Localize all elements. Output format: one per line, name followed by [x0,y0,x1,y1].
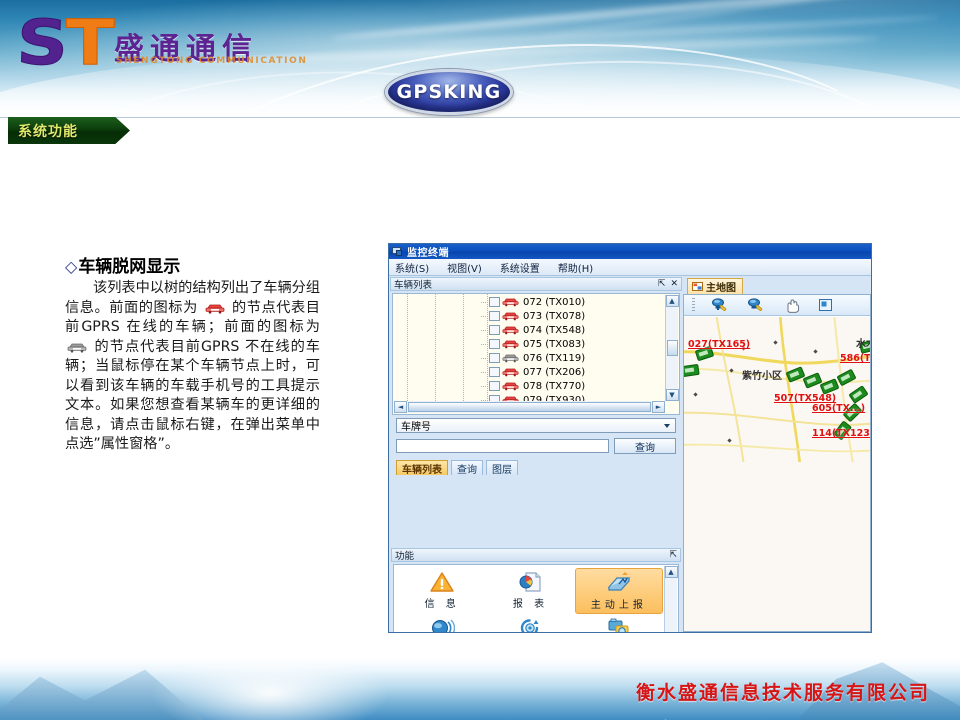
function-item-report[interactable]: 报 表 [486,568,574,614]
vehicle-checkbox[interactable] [489,311,500,321]
scroll-up-button[interactable]: ▲ [666,295,679,307]
header-divider [0,117,960,118]
car-online-icon [502,339,519,349]
scroll-down-button[interactable]: ▼ [666,389,679,401]
vehicle-tree-row[interactable]: 073 (TX078) [489,309,663,323]
paragraph-part-3: 的节点代表目前GPRS 不在线的车辆；当鼠标停在某个车辆节点上时，可以看到该车辆… [65,339,320,453]
search-input[interactable] [396,439,609,453]
function-grid: 信 息 报 表 [398,568,663,633]
vehicle-tree-row[interactable]: 078 (TX770) [489,379,663,393]
company-logo: S T 盛通通信 SHENGTONG COMMUNICATION [18,16,318,78]
page-footer: 衡水盛通信息技术服务有限公司 [0,658,960,720]
tree-horizontal-scrollbar[interactable]: ◄ ► [394,401,665,413]
content-heading: ◇车辆脱网显示 [65,252,320,277]
vehicle-label: 073 (TX078) [523,311,585,322]
search-area: 车牌号 查询 [396,418,676,454]
vehicle-list-caption-label: 车辆列表 [394,277,432,291]
map-icon [692,282,703,291]
track-replay-icon [517,616,543,633]
content-paragraph: 该列表中以树的结构列出了车辆分组信息。前面的图标为 的节点代表目前GPRS 在线… [65,279,320,455]
diamond-bullet-icon: ◇ [65,257,77,276]
gpsking-badge: GPSKING [385,69,513,115]
car-offline-icon [67,342,87,353]
function-item-label: 主动上报 [591,596,647,611]
footer-company-name: 衡水盛通信息技术服务有限公司 [636,678,930,705]
zoom-out-icon[interactable] [745,297,767,314]
select-rect-icon[interactable] [817,297,839,314]
map-vehicle-label: 605(TX...) [812,403,865,414]
function-item-label: 报 表 [513,595,548,610]
vehicle-label: 072 (TX010) [523,297,585,308]
map-place-label: 紫竹小区 [742,367,782,382]
vehicle-tree-row[interactable]: 074 (TX548) [489,323,663,337]
gpsking-badge-label: GPSKING [397,81,502,103]
map-vehicle-label: 586(TX...) [840,353,870,364]
page-header: S T 盛通通信 SHENGTONG COMMUNICATION GPSKING [0,0,960,118]
vehicle-checkbox[interactable] [489,381,500,391]
menu-bar: 系统(S) 视图(V) 系统设置 帮助(H) [389,259,871,276]
scroll-thumb[interactable] [408,402,651,412]
tab-main-map-label: 主地图 [706,279,736,294]
query-button[interactable]: 查询 [614,438,676,454]
scroll-right-button[interactable]: ► [652,401,665,413]
dispatch-signal-icon [429,616,455,633]
vehicle-label: 078 (TX770) [523,381,585,392]
car-online-icon [502,325,519,335]
map-tabstrip: 主地图 [683,277,871,294]
map-place-label: 水木 [856,335,870,350]
vehicle-tree-row[interactable]: 072 (TX010) [489,295,663,309]
menu-item-view[interactable]: 视图(V) [447,260,482,275]
car-online-icon [502,381,519,391]
search-field-select[interactable]: 车牌号 [396,418,676,433]
tab-main-map[interactable]: 主地图 [687,278,743,294]
pin-icon[interactable]: ⇱ [658,280,666,289]
function-item-dispatch[interactable]: 调 度 [398,614,486,633]
vehicle-checkbox[interactable] [489,325,500,335]
zoom-in-icon[interactable] [709,297,731,314]
car-offline-icon [502,353,519,363]
search-field-select-value: 车牌号 [401,418,431,433]
vehicle-label: 074 (TX548) [523,325,585,336]
vehicle-checkbox[interactable] [489,297,500,307]
map-vehicle-label: 114(TX123) [812,428,870,439]
function-item-active-report[interactable]: 主动上报 [575,568,663,614]
pan-hand-icon[interactable] [781,297,803,314]
scroll-left-button[interactable]: ◄ [394,401,407,413]
tab-vehicle-list[interactable]: 车辆列表 [396,460,448,475]
chevron-down-icon [664,424,670,428]
camera-photo-icon [606,616,632,633]
tab-layers[interactable]: 图层 [486,460,518,475]
content-block: ◇车辆脱网显示 该列表中以树的结构列出了车辆分组信息。前面的图标为 的节点代表目… [65,252,320,455]
application-window: 监控终端 系统(S) 视图(V) 系统设置 帮助(H) 车辆列表 ⇱ ✕ [388,243,872,633]
function-panel-scrollbar[interactable]: ▲ [664,566,677,633]
vehicle-checkbox[interactable] [489,339,500,349]
tab-query[interactable]: 查询 [451,460,483,475]
vehicle-tree-row[interactable]: 077 (TX206) [489,365,663,379]
menu-item-system[interactable]: 系统(S) [395,260,429,275]
function-panel: 功能 ⇱ 信 息 [391,548,681,633]
map-toolbar [684,295,870,316]
function-panel-caption: 功能 ⇱ [391,548,681,562]
logo-company-en: SHENGTONG COMMUNICATION [116,56,307,66]
map-body: 027(TX165) 水木 586(TX...) 紫竹小区 507(TX548)… [683,294,871,632]
vehicle-tree-rows: 072 (TX010) 073 (TX078) 074 (TX548) [489,295,663,407]
report-document-icon [517,570,543,594]
function-panel-caption-label: 功能 [395,548,414,562]
menu-item-settings[interactable]: 系统设置 [500,260,540,275]
window-titlebar: 监控终端 [389,244,871,259]
map-canvas[interactable]: 027(TX165) 水木 586(TX...) 紫竹小区 507(TX548)… [684,317,870,631]
section-tag: 系统功能 [8,117,130,144]
left-dock: 车辆列表 ⇱ ✕ 072 (TX010) [390,277,682,633]
dock-tabs: 车辆列表 查询 图层 [396,460,682,475]
logo-letter-s: S [16,12,70,74]
scroll-up-button[interactable]: ▲ [665,566,678,578]
upload-report-icon [606,571,632,595]
vehicle-label: 076 (TX119) [523,353,585,364]
vehicle-list-caption: 车辆列表 ⇱ ✕ [390,277,682,291]
section-tag-label: 系统功能 [18,121,78,141]
close-icon[interactable]: ✕ [670,279,678,289]
car-online-icon [502,367,519,377]
car-online-icon [502,311,519,321]
vehicle-label: 075 (TX083) [523,339,585,350]
car-online-icon [502,297,519,307]
map-vehicle-label: 027(TX165) [688,339,750,350]
vehicle-tree[interactable]: 072 (TX010) 073 (TX078) 074 (TX548) [392,293,680,415]
vehicle-tree-row[interactable]: 075 (TX083) [489,337,663,351]
tree-vertical-scrollbar[interactable]: ▲ ▼ [665,295,678,401]
car-online-icon [205,303,225,314]
toolbar-grip[interactable] [692,298,695,312]
menu-item-help[interactable]: 帮助(H) [558,260,593,275]
logo-letter-t: T [66,12,115,74]
function-panel-body: 信 息 报 表 [393,564,679,633]
function-item-label: 信 息 [425,595,460,610]
function-item-photo[interactable]: 拍 照 [575,614,663,633]
monitor-icon [392,247,403,257]
query-row: 查询 [396,438,676,454]
vehicle-tree-row[interactable]: 076 (TX119) [489,351,663,365]
window-title: 监控终端 [407,244,449,259]
vehicle-label: 077 (TX206) [523,367,585,378]
scroll-thumb[interactable] [667,340,678,356]
vehicle-checkbox[interactable] [489,367,500,377]
vehicle-checkbox[interactable] [489,353,500,363]
content-heading-text: 车辆脱网显示 [78,257,180,277]
map-region: 主地图 [683,277,871,632]
pin-icon[interactable]: ⇱ [669,551,677,560]
function-item-info[interactable]: 信 息 [398,568,486,614]
function-item-track-replay[interactable]: 轨迹回放 [486,614,574,633]
warning-triangle-icon [429,570,455,594]
